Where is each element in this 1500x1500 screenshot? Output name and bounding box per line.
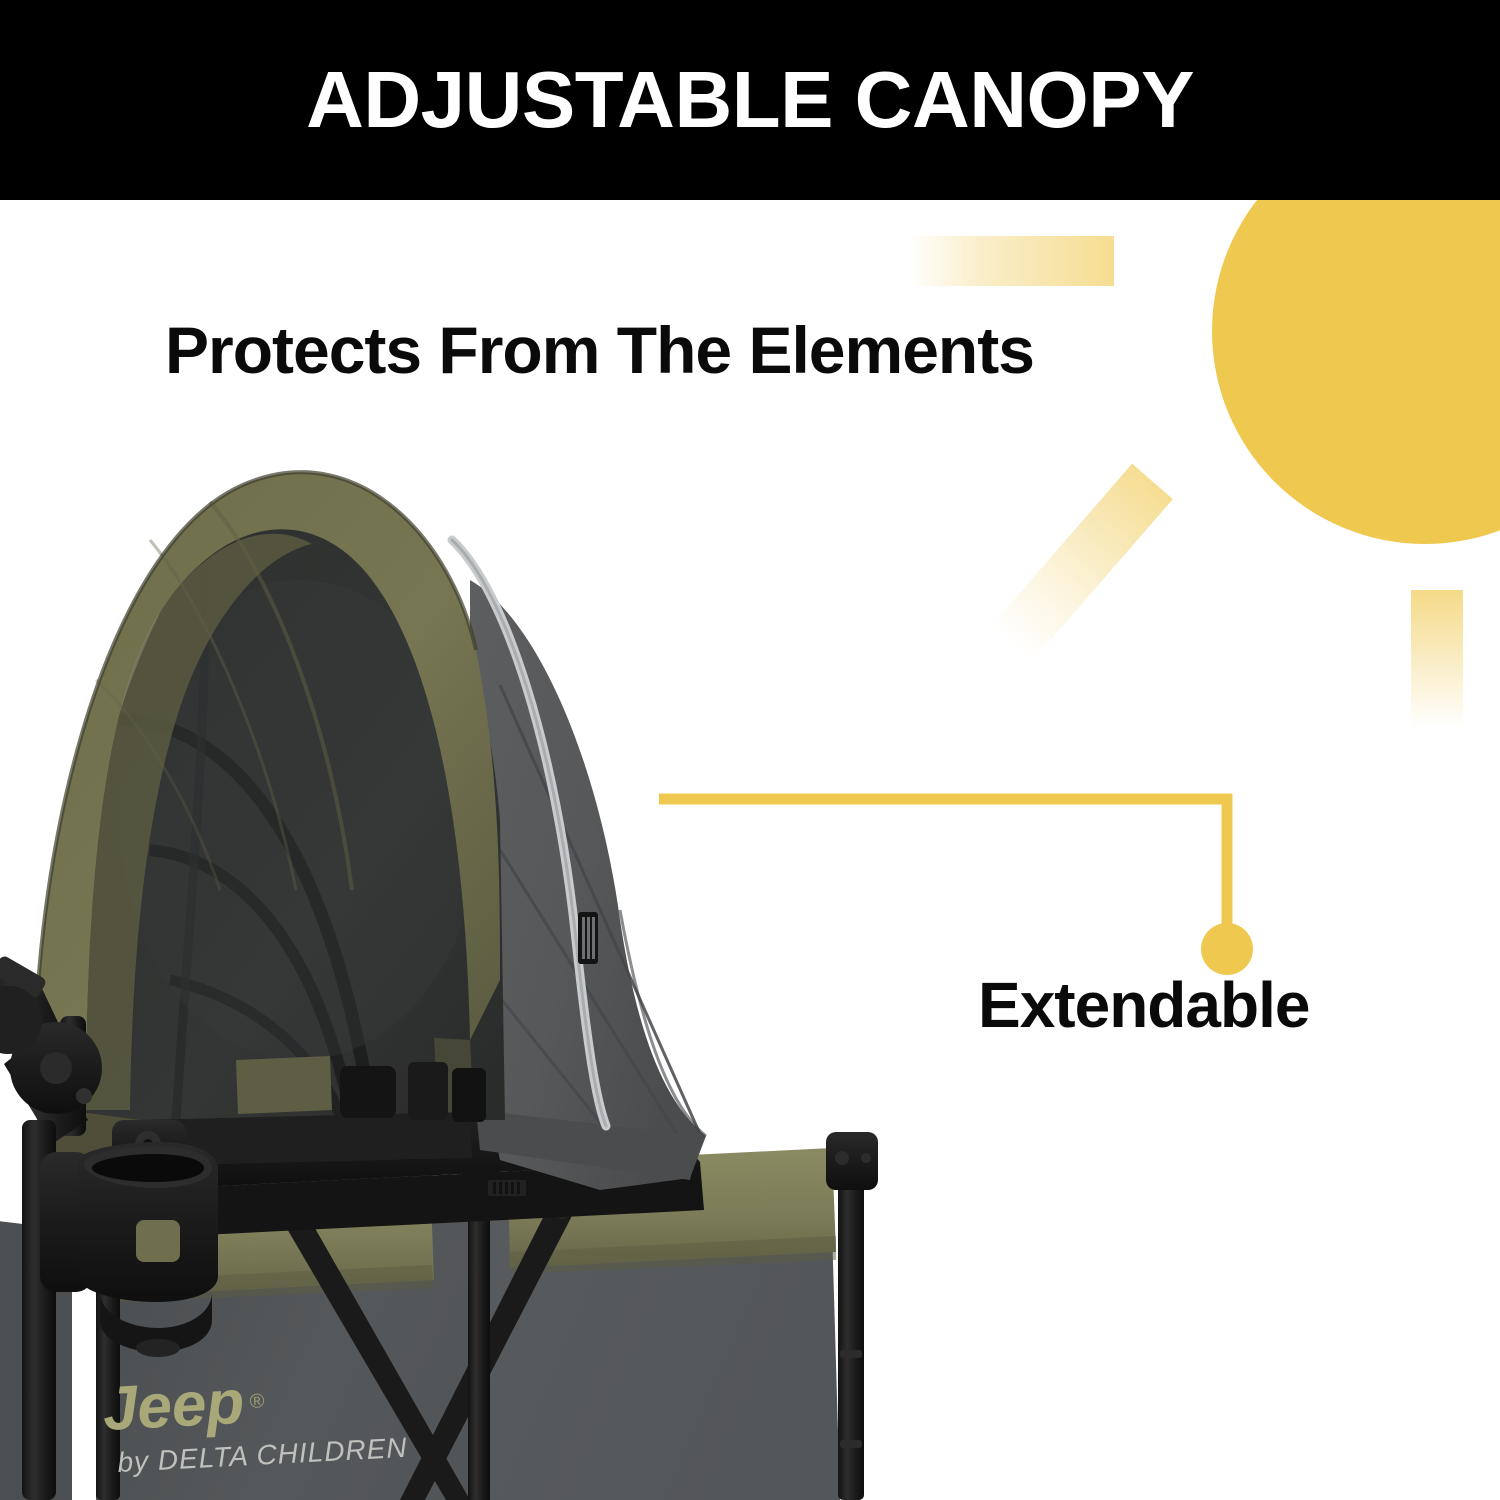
callout-connector [655,785,1295,990]
jeep-logo-text: Jeep [101,1368,246,1444]
leg-right-notch-2 [840,1440,862,1448]
leg-right-rivet-2 [861,1153,871,1163]
strap-2 [408,1062,448,1120]
cupholder-cutout [136,1220,180,1262]
strap-3 [452,1068,486,1122]
callout-elbow-line [659,799,1227,925]
decor-bar-diagonal [991,464,1173,662]
decor-bar-vertical [1411,590,1463,728]
subtitle-text: Protects From The Elements [165,312,1034,388]
leg-right-joint [826,1132,878,1190]
callout-label-extendable: Extendable [978,968,1309,1042]
strap-buckle-1 [340,1066,396,1118]
seat-pad-olive [236,1056,332,1114]
leg-right-notch-1 [840,1350,862,1358]
jeep-logo-registered: ® [249,1390,265,1413]
callout-line-svg [655,785,1295,985]
handle-pivot-rivet [76,1088,92,1104]
center-post [468,1176,490,1500]
handle-pivot-cap [40,1052,72,1084]
header-banner: ADJUSTABLE CANOPY [0,0,1500,200]
decor-bar-horizontal [908,236,1114,286]
cupholder-foot [136,1339,180,1357]
leg-right-rivet [835,1151,849,1165]
jeep-grille-icon [578,912,598,964]
leg-right-rear [838,1180,864,1500]
page-title: ADJUSTABLE CANOPY [306,60,1194,140]
console-grille-icon [488,1180,526,1196]
